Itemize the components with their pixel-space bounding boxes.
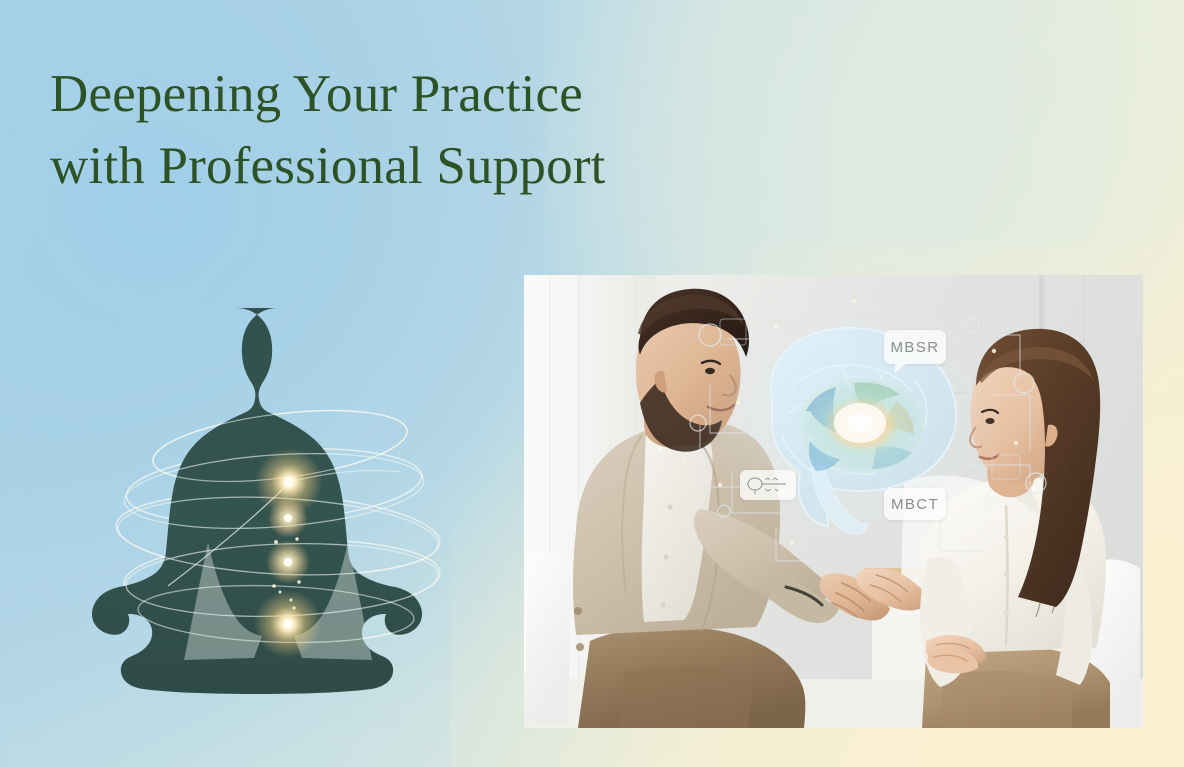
therapy-session-photo [524,275,1143,728]
holo-label-handwriting [740,470,796,500]
slide-root: Deepening Your Practice with Professiona… [0,0,1184,767]
handwriting-scribble-icon [746,475,790,495]
holo-label-mbct: MBCT [884,488,946,520]
photo-chair-left [524,553,572,724]
holo-label-mbsr: MBSR [884,330,946,364]
page-title: Deepening Your Practice with Professiona… [50,58,750,202]
meditating-figure-illustration [48,286,508,716]
